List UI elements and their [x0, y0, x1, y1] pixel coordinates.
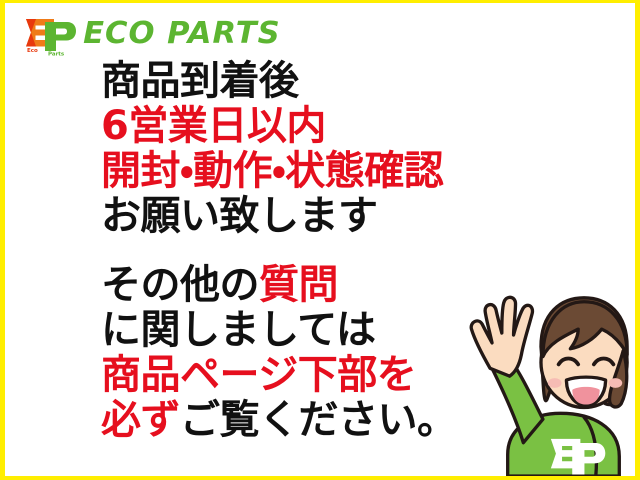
- notice-line-4: お願い致します: [101, 194, 571, 239]
- brand-wordmark: ECO PARTS: [83, 19, 281, 49]
- notice-line-5-black: その他の: [101, 262, 259, 308]
- notice-line-1: 商品到着後: [101, 59, 571, 104]
- notice-line-8-black: ご覧ください。: [180, 397, 457, 443]
- notice-paragraph-gap: [101, 239, 571, 263]
- waving-woman-illustration: [447, 290, 633, 476]
- svg-text:Eco: Eco: [27, 48, 38, 54]
- brand-header: Eco Parts ECO PARTS: [19, 12, 279, 56]
- notice-line-8-red: 必ず: [101, 397, 180, 443]
- ep-monogram-icon: Eco Parts: [19, 12, 77, 56]
- notice-banner: Eco Parts ECO PARTS 商品到着後 6営業日以内 開封・動作・状…: [0, 0, 640, 480]
- notice-line-2: 6営業日以内: [101, 104, 571, 149]
- notice-line-3: 開封・動作・状態確認: [101, 149, 571, 194]
- svg-text:Parts: Parts: [48, 52, 65, 57]
- notice-line-5-red: 質問: [259, 262, 338, 308]
